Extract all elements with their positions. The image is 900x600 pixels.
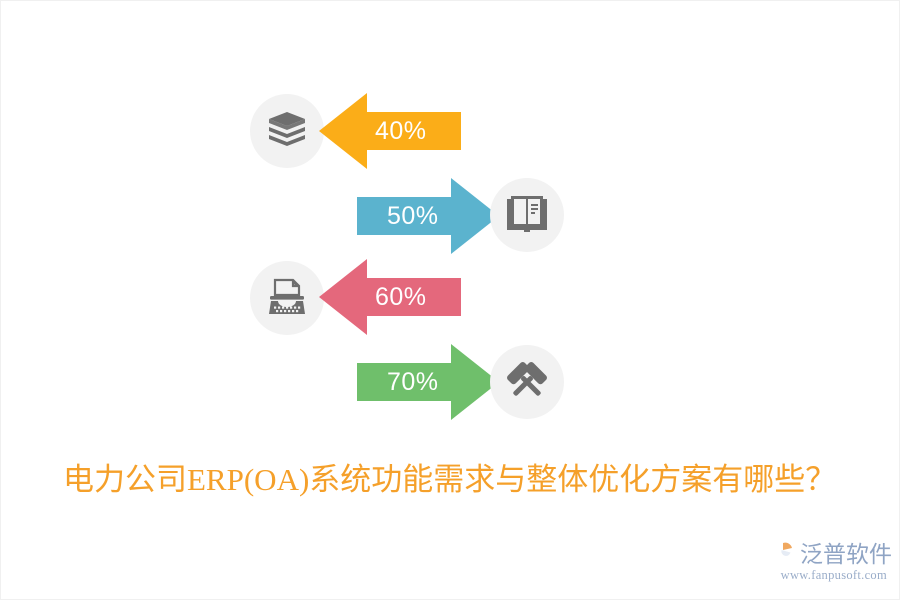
stacked-books-icon	[250, 94, 324, 168]
arrow-40: 40%	[319, 93, 461, 169]
infographic-canvas: 40% 50%	[0, 0, 900, 600]
arrow-50-label: 50%	[387, 202, 439, 231]
typewriter-icon	[250, 261, 324, 335]
crossed-hammers-icon	[490, 345, 564, 419]
arrow-40-label: 40%	[375, 117, 427, 146]
arrow-60-label: 60%	[375, 283, 427, 312]
brand-name: 泛普软件	[800, 535, 892, 569]
open-book-icon	[490, 178, 564, 252]
arrow-50: 50%	[357, 178, 499, 254]
fanpu-swoosh-icon	[771, 537, 797, 568]
arrow-60: 60%	[319, 259, 461, 335]
brand-logo: 泛普软件 www.fanpusoft.com	[771, 537, 887, 583]
page-title: 电力公司ERP(OA)系统功能需求与整体优化方案有哪些？	[63, 458, 836, 502]
arrow-70-label: 70%	[387, 368, 439, 397]
brand-url: www.fanpusoft.com	[771, 568, 887, 583]
arrow-70: 70%	[357, 344, 499, 420]
